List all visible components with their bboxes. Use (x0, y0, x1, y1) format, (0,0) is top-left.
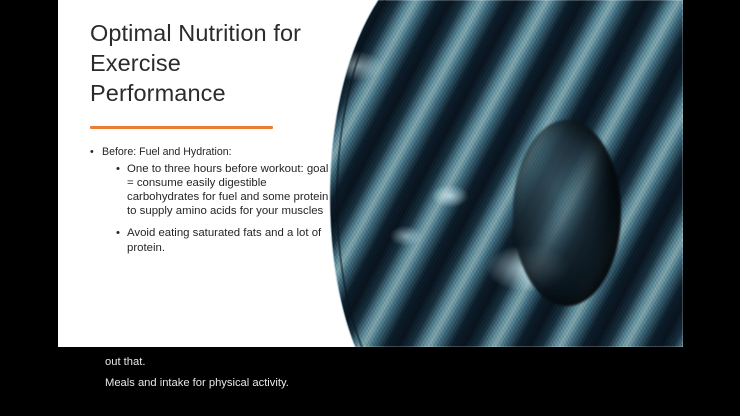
title-accent-rule (90, 126, 273, 129)
weight-plate-shape (513, 120, 621, 306)
caption-line: Meals and intake for physical activity. (105, 373, 665, 394)
page-title: Optimal Nutrition for Exercise Performan… (90, 18, 322, 108)
list-item-label: Avoid eating saturated fats and a lot of… (127, 227, 321, 253)
list-item: • Before: Fuel and Hydration: (90, 146, 330, 160)
body-bullet-list: • Before: Fuel and Hydration: • One to t… (90, 146, 330, 255)
caption-line: out that. (105, 352, 665, 373)
bullet-glyph-icon: • (116, 162, 120, 176)
caption-block: out that. Meals and intake for physical … (105, 352, 665, 394)
sub-bullet-list: • One to three hours before workout: goa… (116, 162, 330, 255)
bullet-glyph-icon: • (116, 226, 120, 240)
list-item-label: One to three hours before workout: goal … (127, 163, 328, 218)
list-item-label: Before: Fuel and Hydration: (102, 146, 232, 158)
list-item: • Avoid eating saturated fats and a lot … (116, 226, 330, 254)
slide-canvas: Optimal Nutrition for Exercise Performan… (58, 0, 683, 347)
list-item: • One to three hours before workout: goa… (116, 162, 330, 219)
bullet-glyph-icon: • (90, 146, 94, 160)
presentation-viewer: Optimal Nutrition for Exercise Performan… (0, 0, 740, 416)
